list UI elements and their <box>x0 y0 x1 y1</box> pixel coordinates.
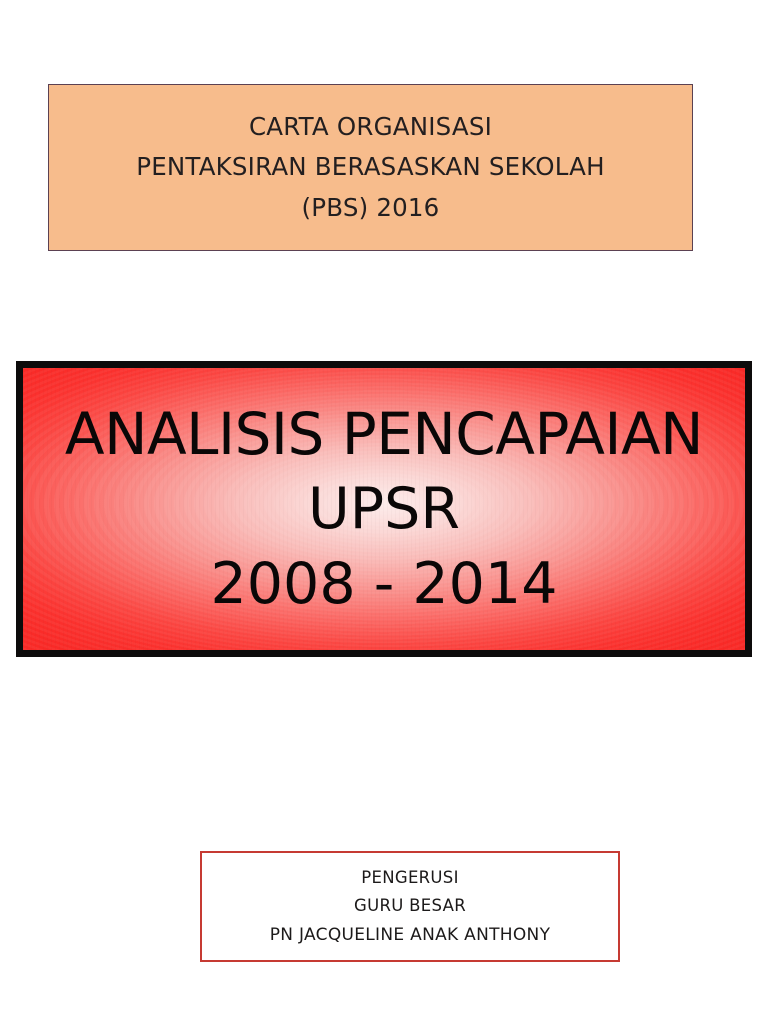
header-line-carta-organisasi: CARTA ORGANISASI <box>249 111 492 148</box>
main-title-content: ANALISIS PENCAPAIAN UPSR 2008 - 2014 <box>23 368 745 650</box>
main-title-year-range: 2008 - 2014 <box>211 549 558 613</box>
main-title-box: ANALISIS PENCAPAIAN UPSR 2008 - 2014 <box>16 361 752 657</box>
header-line-pentaksiran-berasaskan-sekolah: PENTAKSIRAN BERASASKAN SEKOLAH <box>136 147 605 188</box>
slide-canvas: CARTA ORGANISASI PENTAKSIRAN BERASASKAN … <box>0 0 768 1024</box>
main-title-upsr: UPSR <box>308 468 460 548</box>
chairperson-name: PN JACQUELINE ANAK ANTHONY <box>270 921 551 950</box>
organisation-chart-header-box: CARTA ORGANISASI PENTAKSIRAN BERASASKAN … <box>48 84 693 251</box>
header-line-pbs-year: (PBS) 2016 <box>302 188 440 225</box>
chairperson-position-label: GURU BESAR <box>354 892 466 921</box>
chairperson-role-label: PENGERUSI <box>361 864 459 893</box>
main-title-analisis-pencapaian: ANALISIS PENCAPAIAN <box>65 405 703 468</box>
chairperson-box: PENGERUSI GURU BESAR PN JACQUELINE ANAK … <box>200 851 620 962</box>
